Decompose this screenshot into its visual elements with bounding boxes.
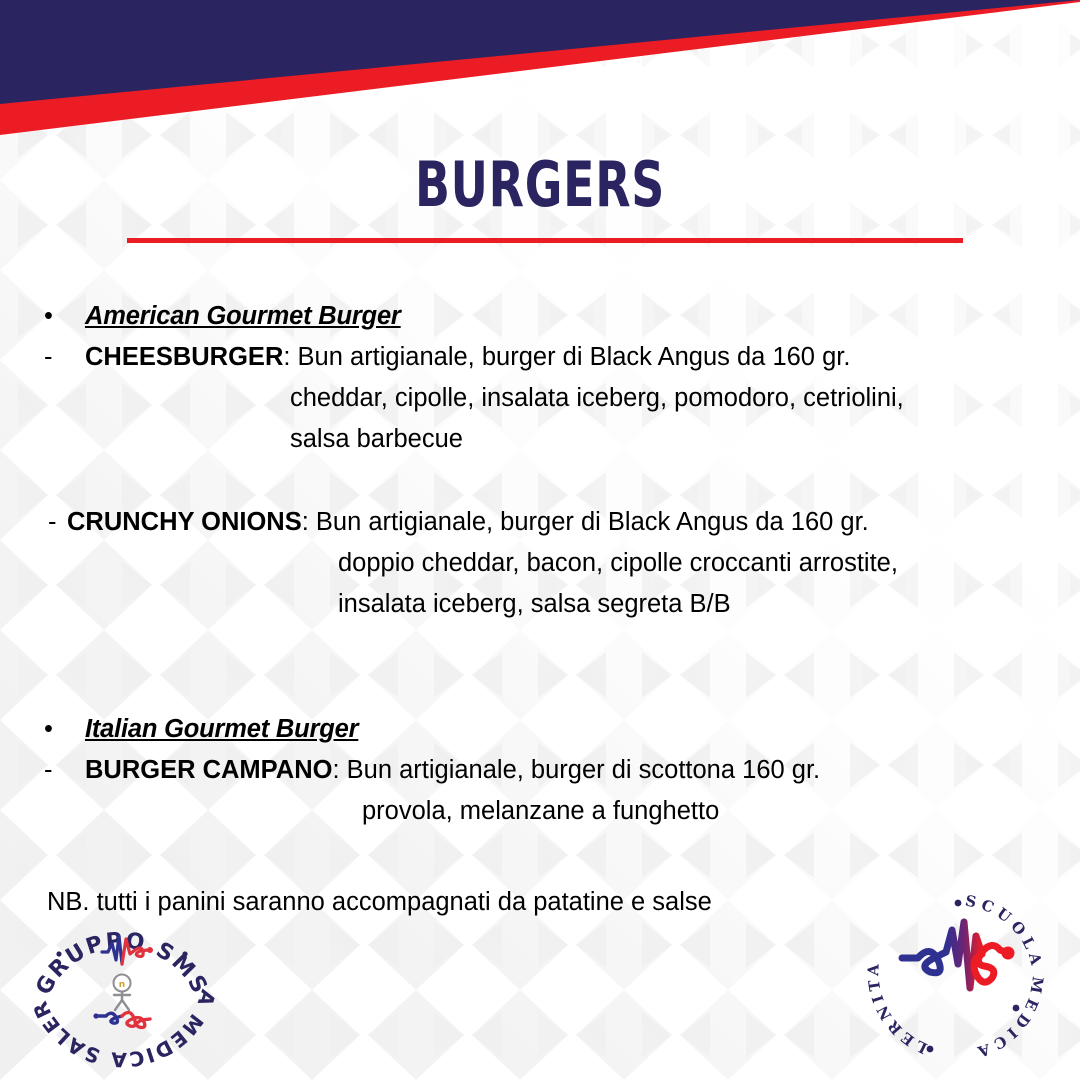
item-name: BURGER CAMPANO [85,756,332,784]
slide-canvas: BURGERS • American Gourmet Burger - CHEE… [0,0,1080,1080]
section-heading-row: • Italian Gourmet Burger [0,709,1080,750]
scuola-medica-salernitana-logo: SCUOLA MEDICA SALERNITANA [866,892,1044,1058]
item-description-line: Bun artigianale, burger di scottona 160 … [340,756,821,784]
item-colon: : [332,756,339,784]
item-description-line: Bun artigianale, burger di Black Angus d… [290,343,850,371]
section-heading-row: • American Gourmet Burger [0,296,1080,337]
logo-right-sms-heartbeat-monogram [902,922,1015,988]
svg-text:n: n [119,980,125,990]
page-title: BURGERS [140,152,939,217]
section-heading-label: American Gourmet Burger [85,302,401,330]
item-description-line: Bun artigianale, burger di Black Angus d… [309,508,869,536]
logo-right-arc-salernitana: SALERNITANA [866,892,930,1057]
item-description-continuation: provola, melanzane a funghetto [0,791,1080,832]
item-name: CRUNCHY ONIONS [67,508,302,536]
item-description-continuation: insalata iceberg, salsa segreta B/B [0,584,1080,625]
spacer [0,625,1080,709]
item-description-continuation: cheddar, cipolle, insalata iceberg, pomo… [0,378,1080,419]
menu-item-row: - BURGER CAMPANO: Bun artigianale, burge… [0,750,1080,791]
svg-text:SALERNITANA: SALERNITANA [866,892,930,1057]
section-heading-label: Italian Gourmet Burger [85,715,358,743]
menu-item-row: - CRUNCHY ONIONS: Bun artigianale, burge… [0,502,1080,543]
gruppo-sms-logo: GRUPPO SMS SCUOLA MEDICA SALERNITANA n [22,892,222,1078]
dash-icon: - [44,337,74,378]
logo-right-arc-medica: MEDICA [971,975,1044,1058]
item-description-continuation: salsa barbecue [0,419,1080,460]
spacer [0,832,1080,882]
header-navy-band [0,0,1080,140]
spacer [0,460,1080,502]
bullet-icon: • [44,296,74,337]
item-colon: : [302,508,309,536]
logo-left-ekg-bottom [93,1012,150,1027]
item-description-continuation: doppio cheddar, bacon, cipolle croccanti… [0,543,1080,584]
dash-icon: - [48,502,78,543]
svg-text:MEDICA: MEDICA [971,975,1044,1058]
title-underline-rule [127,238,963,243]
bullet-icon: • [44,709,74,750]
logo-left-figure-icon: n [114,975,131,1011]
menu-body: • American Gourmet Burger - CHEESBURGER:… [0,296,1080,923]
menu-item-row: - CHEESBURGER: Bun artigianale, burger d… [0,337,1080,378]
dash-icon: - [44,750,74,791]
item-name: CHEESBURGER [85,343,283,371]
